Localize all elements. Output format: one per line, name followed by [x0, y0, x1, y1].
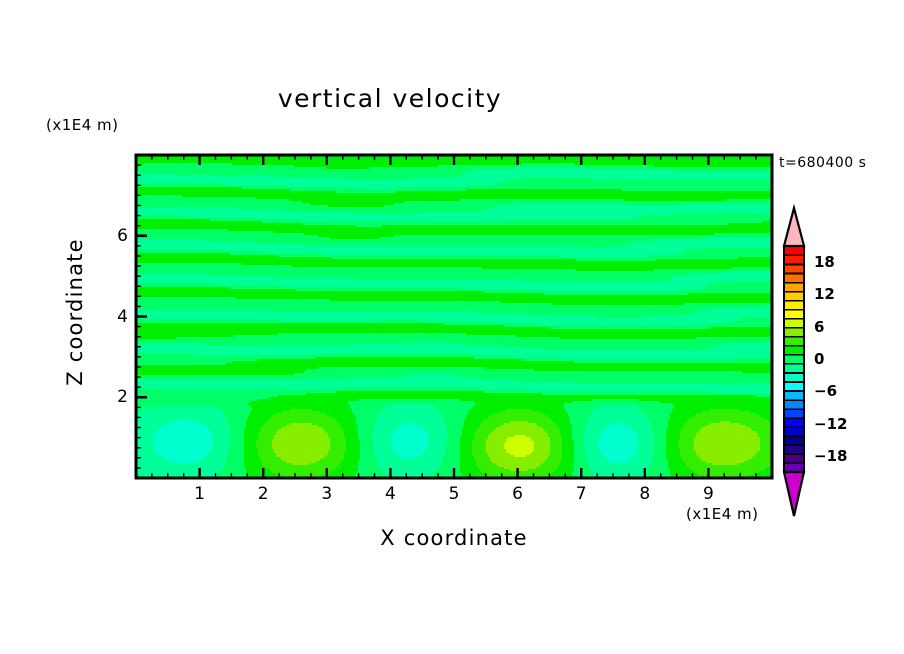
y-tick-label: 6 — [102, 226, 128, 246]
contour-plot — [0, 0, 904, 654]
colorbar-tick-label: 18 — [814, 253, 835, 271]
colorbar-tick-label: 12 — [814, 285, 835, 303]
x-tick-label: 3 — [315, 484, 339, 504]
x-tick-label: 1 — [188, 484, 212, 504]
x-tick-label: 8 — [633, 484, 657, 504]
x-tick-label: 2 — [251, 484, 275, 504]
colorbar-tick-label: −18 — [814, 447, 847, 465]
colorbar-tick-label: 6 — [814, 318, 824, 336]
colorbar-tick-label: 0 — [814, 350, 824, 368]
x-tick-label: 6 — [506, 484, 530, 504]
y-tick-label: 4 — [102, 307, 128, 327]
x-tick-label: 5 — [442, 484, 466, 504]
x-tick-label: 7 — [569, 484, 593, 504]
colorbar-tick-label: −12 — [814, 415, 847, 433]
x-tick-label: 4 — [378, 484, 402, 504]
colorbar — [784, 208, 804, 516]
y-tick-label: 2 — [102, 387, 128, 407]
x-tick-label: 9 — [696, 484, 720, 504]
figure-canvas: vertical velocity (x1E4 m) t=680400 s (x… — [0, 0, 904, 654]
colorbar-tick-label: −6 — [814, 382, 837, 400]
